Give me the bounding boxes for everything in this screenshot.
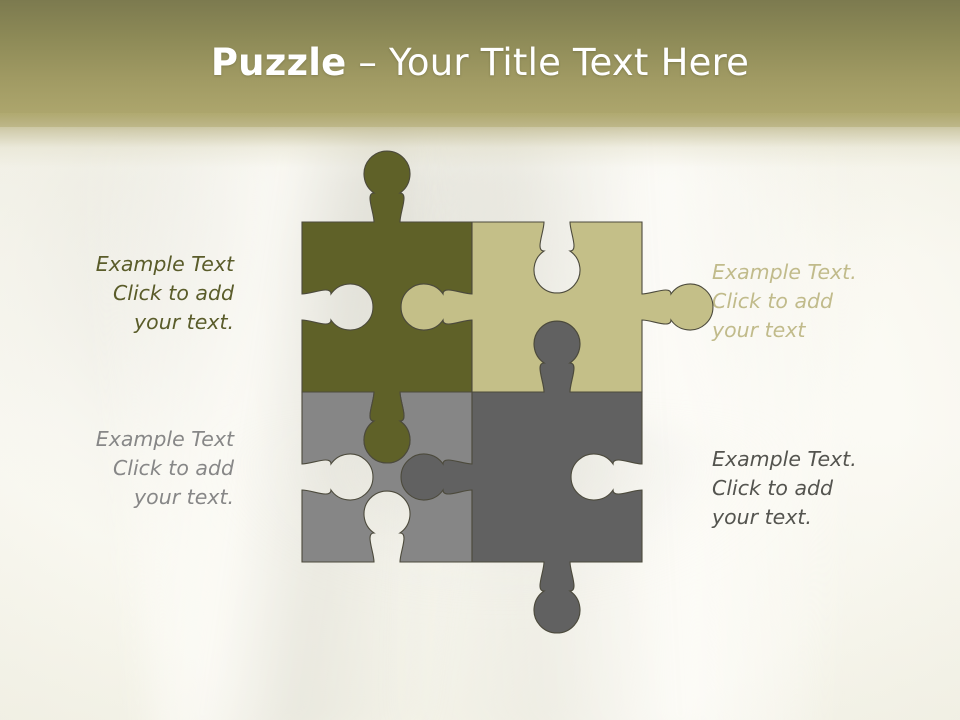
slide-canvas: Puzzle – Your Title Text Here Example Te…	[0, 0, 960, 720]
caption-bottom-right[interactable]: Example Text. Click to add your text.	[712, 445, 922, 532]
caption-top-left[interactable]: Example Text Click to add your text.	[48, 250, 234, 337]
caption-bottom-left[interactable]: Example Text Click to add your text.	[48, 425, 234, 512]
page-title-bold: Puzzle	[211, 41, 347, 84]
puzzle-graphic	[243, 163, 703, 623]
page-title: Puzzle – Your Title Text Here	[0, 41, 960, 84]
page-title-rest: – Your Title Text Here	[346, 41, 749, 84]
caption-top-right[interactable]: Example Text. Click to add your text	[712, 258, 922, 345]
puzzle-pieces	[302, 151, 713, 633]
puzzle-svg	[243, 163, 703, 623]
